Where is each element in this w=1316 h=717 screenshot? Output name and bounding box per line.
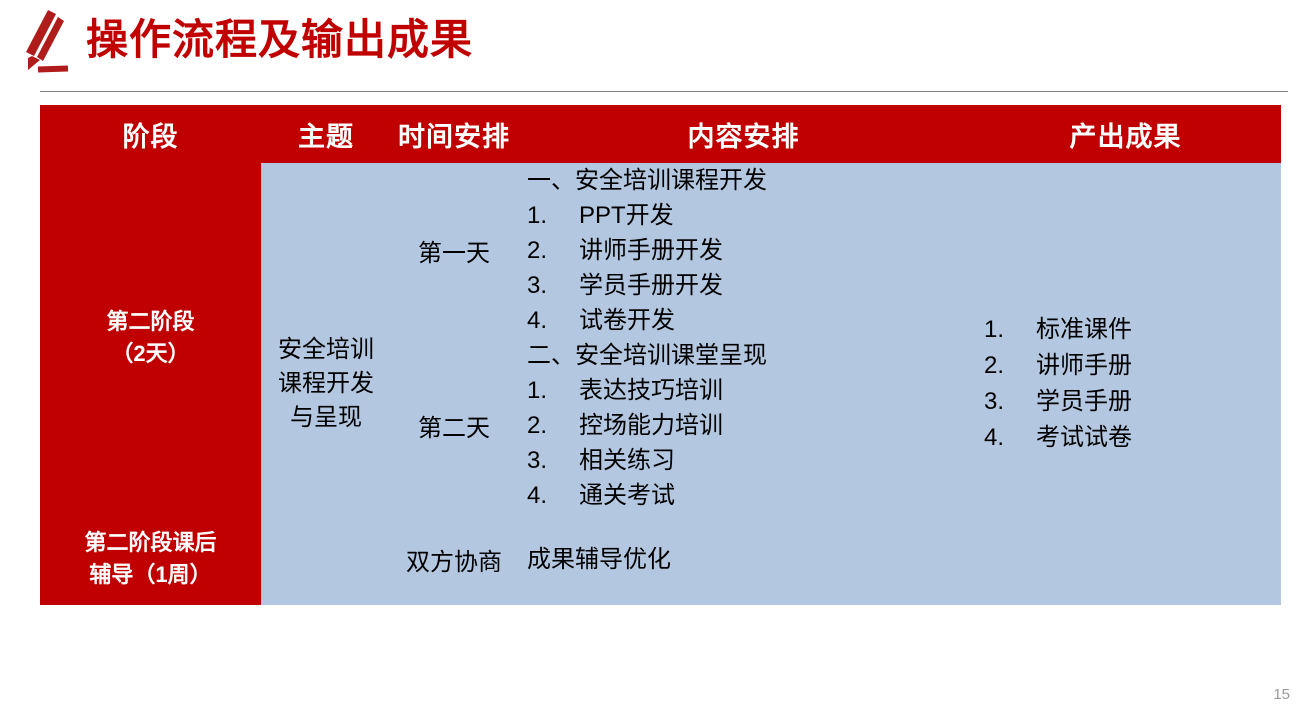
page-title: 操作流程及输出成果: [86, 10, 473, 70]
time-cell-negotiated: 双方协商: [391, 513, 517, 605]
stage-followup-line2: 辅导（1周）: [89, 562, 211, 587]
list-item-label: 标准课件: [1036, 316, 1132, 343]
column-header-content: 内容安排: [517, 105, 970, 163]
column-header-stage: 阶段: [40, 105, 261, 163]
content-text-3: 成果辅导优化: [527, 542, 970, 577]
list-item: 4.试卷开发: [527, 303, 970, 338]
table-header-row: 阶段 主题 时间安排 内容安排 产出成果: [40, 105, 1281, 163]
list-item-number: 4.: [527, 478, 579, 513]
list-item-label: 讲师手册开发: [579, 237, 723, 264]
list-item-number: 1.: [527, 198, 579, 233]
content-heading-1: 一、安全培训课程开发: [527, 163, 970, 198]
outcome-list: 1.标准课件 2.讲师手册 3.学员手册 4.考试试卷: [984, 312, 1281, 456]
list-item-number: 1.: [527, 373, 579, 408]
time-cell-day2: 第二天: [391, 338, 517, 513]
list-item-label: 讲师手册: [1036, 352, 1132, 379]
topic-line1: 安全培训: [278, 336, 374, 363]
stage-followup-line1: 第二阶段课后: [84, 530, 216, 555]
list-item-number: 3.: [527, 443, 579, 478]
list-item: 3.相关练习: [527, 443, 970, 478]
list-item-number: 1.: [984, 312, 1036, 348]
list-item-label: 相关练习: [579, 447, 675, 474]
outcome-cell: 1.标准课件 2.讲师手册 3.学员手册 4.考试试卷: [970, 163, 1281, 605]
list-item-label: 学员手册开发: [579, 272, 723, 299]
list-item-label: 表达技巧培训: [579, 377, 723, 404]
list-item: 2.讲师手册开发: [527, 233, 970, 268]
table-row: 第二阶段 （2天） 安全培训 课程开发 与呈现 第一天 一、安全培训课程开发 1…: [40, 163, 1281, 338]
stage-phase2-line1: 第二阶段: [106, 309, 194, 334]
list-item-label: 试卷开发: [579, 307, 675, 334]
header-divider: [40, 91, 1288, 92]
list-item: 1.PPT开发: [527, 198, 970, 233]
list-item-number: 2.: [527, 233, 579, 268]
topic-line2: 课程开发: [278, 370, 374, 397]
content-list-1: 1.PPT开发 2.讲师手册开发 3.学员手册开发 4.试卷开发: [527, 198, 970, 338]
pencil-icon: [18, 8, 74, 78]
column-header-time: 时间安排: [391, 105, 517, 163]
content-heading-2: 二、安全培训课堂呈现: [527, 338, 970, 373]
process-table-container: 阶段 主题 时间安排 内容安排 产出成果 第二阶段 （2天） 安全培训 课程开发…: [40, 105, 1281, 602]
list-item: 4.通关考试: [527, 478, 970, 513]
list-item-label: 考试试卷: [1036, 424, 1132, 451]
list-item-number: 3.: [527, 268, 579, 303]
topic-line3: 与呈现: [290, 404, 362, 431]
list-item-number: 2.: [527, 408, 579, 443]
list-item: 3.学员手册开发: [527, 268, 970, 303]
list-item-label: PPT开发: [579, 202, 674, 229]
list-item-number: 2.: [984, 348, 1036, 384]
list-item: 2.控场能力培训: [527, 408, 970, 443]
stage-followup-cell: 第二阶段课后 辅导（1周）: [40, 513, 261, 605]
list-item-number: 4.: [984, 420, 1036, 456]
column-header-topic: 主题: [261, 105, 391, 163]
process-table: 阶段 主题 时间安排 内容安排 产出成果 第二阶段 （2天） 安全培训 课程开发…: [40, 105, 1281, 605]
page-number: 15: [1273, 686, 1290, 703]
column-header-outcome: 产出成果: [970, 105, 1281, 163]
topic-cell: 安全培训 课程开发 与呈现: [261, 163, 391, 605]
list-item: 3.学员手册: [984, 384, 1281, 420]
list-item: 4.考试试卷: [984, 420, 1281, 456]
list-item-label: 学员手册: [1036, 388, 1132, 415]
stage-phase2-cell: 第二阶段 （2天）: [40, 163, 261, 513]
list-item: 1.表达技巧培训: [527, 373, 970, 408]
content-cell-day2: 二、安全培训课堂呈现 1.表达技巧培训 2.控场能力培训 3.相关练习 4.通关…: [517, 338, 970, 513]
list-item-number: 3.: [984, 384, 1036, 420]
stage-phase2-line2: （2天）: [111, 341, 189, 366]
content-cell-negotiated: 成果辅导优化: [517, 513, 970, 605]
time-cell-day1: 第一天: [391, 163, 517, 338]
list-item-number: 4.: [527, 303, 579, 338]
content-list-2: 1.表达技巧培训 2.控场能力培训 3.相关练习 4.通关考试: [527, 373, 970, 513]
content-cell-day1: 一、安全培训课程开发 1.PPT开发 2.讲师手册开发 3.学员手册开发 4.试…: [517, 163, 970, 338]
slide-header: 操作流程及输出成果: [0, 0, 1316, 92]
list-item-label: 控场能力培训: [579, 412, 723, 439]
list-item: 1.标准课件: [984, 312, 1281, 348]
list-item-label: 通关考试: [579, 482, 675, 509]
list-item: 2.讲师手册: [984, 348, 1281, 384]
